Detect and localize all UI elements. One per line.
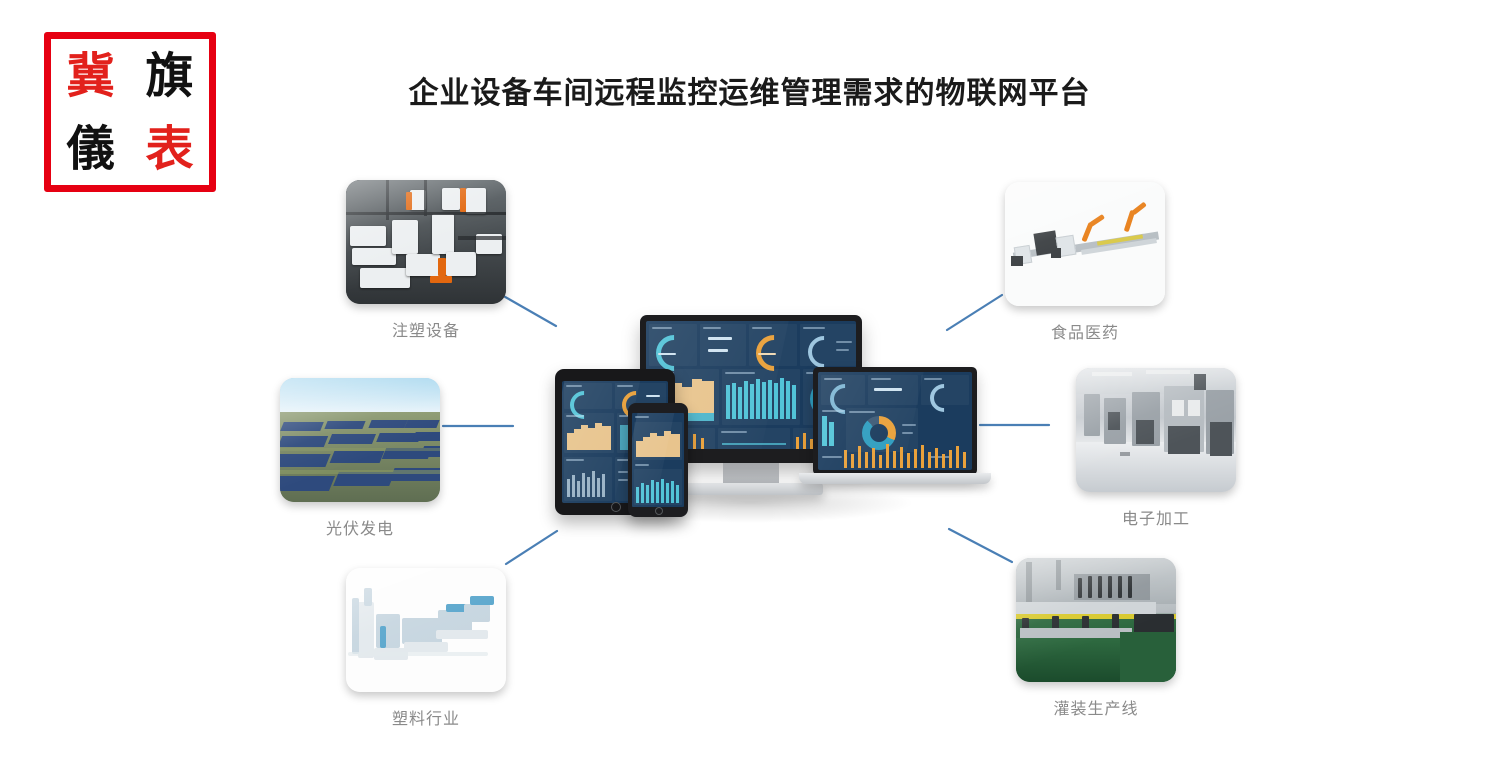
connector-plastic [506, 531, 557, 564]
thumb-food [1005, 182, 1165, 306]
phone-home-button[interactable] [655, 507, 663, 515]
node-plastic[interactable]: 塑料行业 [326, 568, 526, 729]
thumb-injection [346, 180, 506, 304]
phone-screen [632, 413, 684, 507]
node-label-solar: 光伏发电 [260, 515, 460, 539]
monitor-neck [723, 463, 779, 485]
thumb-plastic [346, 568, 506, 692]
thumb-electronic [1076, 368, 1236, 492]
node-solar[interactable]: 光伏发电 [260, 378, 460, 539]
node-injection[interactable]: 注塑设备 [326, 180, 526, 341]
iot-dashboard-devices [545, 305, 975, 520]
device-phone[interactable] [628, 403, 688, 517]
monitor-base [679, 483, 823, 495]
tablet-home-button[interactable] [611, 502, 621, 512]
node-food[interactable]: 食品医药 [985, 182, 1185, 343]
node-label-food: 食品医药 [985, 319, 1185, 343]
node-label-injection: 注塑设备 [326, 317, 526, 341]
laptop-bezel [813, 367, 977, 475]
laptop-deck [799, 473, 991, 484]
node-label-plastic: 塑料行业 [326, 705, 526, 729]
laptop-screen [818, 372, 972, 470]
node-filling[interactable]: 灌装生产线 [996, 558, 1196, 719]
node-label-filling: 灌装生产线 [996, 695, 1196, 719]
thumb-solar [280, 378, 440, 502]
device-laptop[interactable] [813, 367, 977, 475]
thumb-filling [1016, 558, 1176, 682]
node-label-electronic: 电子加工 [1056, 505, 1256, 529]
phone-bezel [628, 403, 688, 517]
node-electronic[interactable]: 电子加工 [1056, 368, 1256, 529]
